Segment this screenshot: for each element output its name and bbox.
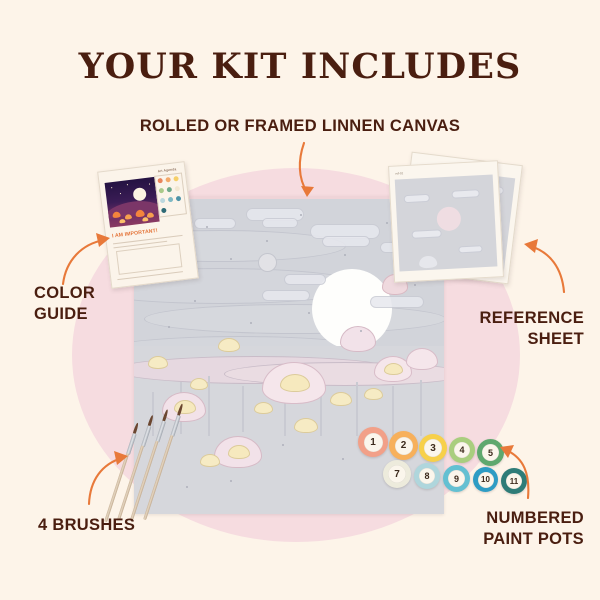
artwork-star <box>111 187 112 188</box>
swatch <box>157 178 163 184</box>
paint-pot-number: 8 <box>424 471 429 481</box>
artwork-mushroom <box>419 256 438 269</box>
color-guide-diagram <box>116 243 182 275</box>
artwork-cloud <box>451 189 479 198</box>
mushroom-stem <box>152 392 154 436</box>
paint-pot-number: 10 <box>481 475 490 484</box>
swatch <box>175 186 181 192</box>
mushroom-stem <box>356 382 358 436</box>
mushroom-cap-inner <box>280 374 310 392</box>
artwork-mushroom <box>135 209 145 217</box>
paint-region-dot <box>230 258 232 260</box>
paint-pot-number: 4 <box>459 445 464 455</box>
paint-region-dot <box>266 240 268 242</box>
paint-region-dot <box>386 222 388 224</box>
small-moon-shape <box>258 253 277 272</box>
swatch <box>160 198 166 204</box>
paint-pot-number: 3 <box>430 443 436 454</box>
canvas-label: ROLLED OR FRAMED LINNEN CANVAS <box>0 117 600 136</box>
color-guide-label-line2: GUIDE <box>34 304 95 325</box>
reference-sheet-code: ref-01 <box>395 171 403 175</box>
mushroom-small <box>294 418 318 433</box>
paint-pot-4[interactable]: 4 <box>449 437 475 463</box>
paint-pot-lid: 7 <box>388 465 406 483</box>
swatch <box>159 188 165 194</box>
paint-region-dot <box>308 312 310 314</box>
paint-region-dot <box>194 300 196 302</box>
cloud-shape <box>262 218 298 228</box>
mushroom-cap-inner <box>384 363 403 375</box>
reference-sheet-front: ref-01 <box>388 160 504 283</box>
artwork-star <box>120 193 121 194</box>
artwork-star <box>149 183 150 184</box>
artwork-cloud <box>458 245 482 253</box>
paint-region-dot <box>230 480 232 482</box>
artwork-mushroom <box>142 217 148 222</box>
cloud-shape <box>194 218 236 229</box>
sky-band <box>144 304 444 334</box>
paint-pot-2[interactable]: 2 <box>389 431 418 460</box>
paint-region-dot <box>344 254 346 256</box>
mushroom-small <box>218 338 240 352</box>
mushroom-stem <box>208 376 210 436</box>
canvas-arrow-icon <box>276 140 336 206</box>
mushroom-small <box>364 388 383 400</box>
paint-pot-number: 7 <box>394 469 400 480</box>
mushroom-small <box>190 378 208 390</box>
artwork-moon <box>132 187 146 201</box>
paint-pot-number: 9 <box>454 474 459 484</box>
brushes-arrow-icon <box>84 448 144 510</box>
paint-pots-label: NUMBERED PAINT POTS <box>483 508 584 550</box>
cloud-shape <box>262 290 310 301</box>
infographic-page: YOUR KIT INCLUDES ROLLED OR FRAMED LINNE… <box>0 0 600 600</box>
cloud-shape <box>284 274 326 285</box>
mushroom-cap-inner <box>228 445 250 459</box>
reference-sheet-artwork <box>395 174 498 271</box>
pots-arrow-icon <box>494 440 556 502</box>
mushroom-stem <box>420 380 422 436</box>
mushroom-stem <box>392 386 394 436</box>
cloud-shape <box>370 296 424 308</box>
paint-region-dot <box>206 226 208 228</box>
color-guide-artwork <box>105 177 160 228</box>
reference-label-line1: REFERENCE <box>480 308 584 329</box>
paint-region-dot <box>342 458 344 460</box>
paint-region-dot <box>186 486 188 488</box>
paint-pot-1[interactable]: 1 <box>358 427 388 457</box>
artwork-mushroom <box>125 214 133 220</box>
artwork-cloud <box>404 194 430 203</box>
pots-label-line2: PAINT POTS <box>483 529 584 550</box>
paint-pot-lid: 10 <box>478 472 494 488</box>
paint-region-dot <box>250 322 252 324</box>
swatch <box>176 196 182 202</box>
paint-pot-number: 5 <box>488 448 493 458</box>
swatch <box>167 187 173 193</box>
swatch <box>165 177 171 183</box>
pots-label-line1: NUMBERED <box>483 508 584 529</box>
color-guide-swatch-grid <box>154 172 187 217</box>
artwork-star <box>127 184 128 185</box>
paint-pot-8[interactable]: 8 <box>414 463 440 489</box>
mushroom-shape <box>340 326 376 352</box>
swatch <box>161 208 167 214</box>
paint-pot-lid: 3 <box>424 439 442 457</box>
paint-region-dot <box>360 330 362 332</box>
paint-region-dot <box>414 284 416 286</box>
reference-arrow-icon <box>512 236 574 300</box>
swatch <box>168 197 174 203</box>
paint-pot-number: 2 <box>401 440 407 451</box>
color-guide-label-line1: COLOR <box>34 283 95 304</box>
swatch <box>173 176 179 182</box>
paint-pot-7[interactable]: 7 <box>383 460 411 488</box>
paint-pot-lid: 2 <box>395 437 413 455</box>
paint-pot-3[interactable]: 3 <box>419 434 447 462</box>
mushroom-small <box>148 356 168 369</box>
paint-pot-number: 1 <box>370 437 376 448</box>
mushroom-small <box>200 454 220 467</box>
artwork-moon <box>436 206 461 231</box>
artwork-mushroom <box>119 219 125 224</box>
mushroom-small <box>254 402 273 414</box>
mushroom-shape <box>406 348 438 370</box>
paint-region-dot <box>168 326 170 328</box>
reference-label-line2: SHEET <box>480 329 584 350</box>
paint-pot-lid: 1 <box>364 433 383 452</box>
artwork-cloud <box>411 229 441 239</box>
brushes-label: 4 BRUSHES <box>38 515 135 536</box>
page-title: YOUR KIT INCLUDES <box>0 46 600 87</box>
paint-region-dot <box>282 444 284 446</box>
mushroom-small <box>330 392 352 406</box>
paint-pot-lid: 9 <box>448 470 465 487</box>
cloud-shape <box>322 236 370 247</box>
paint-pot-lid: 8 <box>419 468 435 484</box>
color-guide-label: COLOR GUIDE <box>34 283 95 325</box>
reference-sheet-label: REFERENCE SHEET <box>480 308 584 350</box>
paint-pot-lid: 4 <box>454 442 470 458</box>
paint-pot-9[interactable]: 9 <box>443 465 470 492</box>
mushroom-stem <box>242 386 244 432</box>
paint-region-dot <box>300 214 302 216</box>
